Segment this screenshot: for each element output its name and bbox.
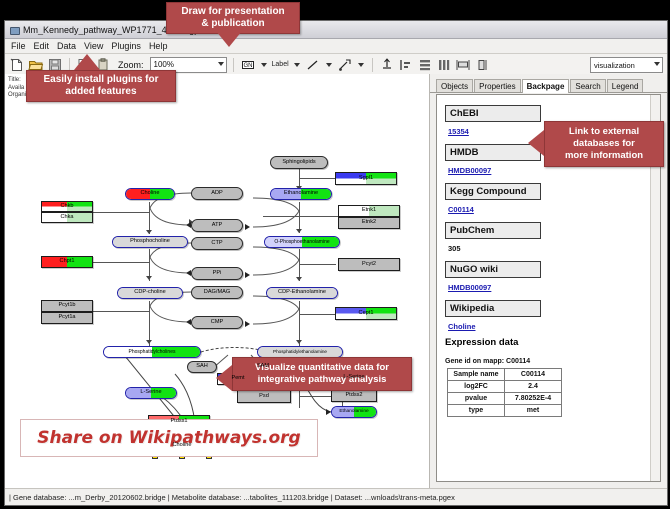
node-sgpl1[interactable]: Sgpl1 [335, 172, 397, 185]
node-atp[interactable]: ATP [191, 219, 243, 232]
db-header-chebi: ChEBI [445, 105, 541, 122]
align-left-button[interactable] [398, 57, 414, 73]
edge-etnk-line [263, 216, 338, 217]
node-label: SAM [249, 364, 277, 370]
node-label: CMP [192, 320, 242, 326]
db-link-kegg[interactable]: C00114 [448, 205, 652, 214]
label-button[interactable]: Label [272, 61, 289, 68]
node-label: Choline [126, 191, 174, 197]
node-label: ADP [192, 191, 242, 197]
callout-plugins-line2: added features [65, 86, 136, 98]
cell-key: log2FC [448, 381, 505, 393]
edge-chpt1-line [93, 262, 150, 263]
cell-key: type [448, 405, 505, 417]
edge-cept1-line [300, 314, 336, 315]
node-cmp[interactable]: CMP [191, 316, 243, 329]
expression-table: Sample name C00114 log2FC 2.4 pvalue 7.8… [447, 368, 562, 417]
node-label: O-Phosphoethanolamine [265, 240, 339, 245]
node-label: Choline [156, 443, 208, 449]
callout-links: Link to external databases for more info… [544, 121, 664, 167]
node-l-serine-left[interactable]: L-Serine [125, 387, 177, 399]
db-value-pubchem: 305 [448, 244, 652, 253]
callout-draw: Draw for presentation & publication [166, 2, 300, 34]
node-label: CTP [192, 241, 242, 247]
table-row: log2FC 2.4 [448, 381, 562, 393]
arrowhead-2 [146, 276, 152, 280]
node-label: Ptdss2 [332, 393, 376, 399]
arrowhead-6 [296, 277, 302, 281]
edge-pcyt-line [93, 311, 150, 312]
screenshot-root: Mm_Kennedy_pathway_WP1771_45176.gpml Fil… [0, 0, 670, 509]
statusbar-text: | Gene database: ...m_Derby_20120602.bri… [9, 493, 455, 502]
node-label: Ptdss1 [149, 419, 209, 425]
toolbar-separator-3 [372, 58, 373, 72]
db-link-hmdb[interactable]: HMDB00097 [448, 166, 652, 175]
node-label: Etnk2 [339, 220, 399, 226]
callout-links-line1: Link to external [569, 126, 639, 138]
node-label: Pcyt1b [42, 303, 92, 309]
node-label: CDP-Ethanolamine [267, 290, 337, 296]
callout-links-line2: databases for [573, 138, 635, 150]
callout-draw-arrow [216, 31, 242, 47]
node-etnk1[interactable]: Etnk1 [338, 205, 400, 217]
arrowhead-7 [296, 340, 302, 344]
db-link-nugo[interactable]: HMDB00097 [448, 283, 652, 292]
edge-pcyt2-line [300, 264, 336, 265]
visualization-combo[interactable]: visualization [590, 57, 663, 73]
node-cdp-ethanolamine[interactable]: CDP-Ethanolamine [266, 287, 338, 299]
callout-plugins: Easily install plugins for added feature… [26, 70, 176, 102]
menu-help[interactable]: Help [149, 41, 168, 51]
node-pcyt1b[interactable]: Pcyt1b [41, 300, 93, 312]
node-cept1[interactable]: Cept1 [335, 307, 397, 320]
node-phosphocholine[interactable]: Phosphocholine [112, 236, 188, 248]
menu-view[interactable]: View [84, 41, 103, 51]
callout-links-line3: more information [565, 150, 643, 162]
label-dropdown-icon[interactable] [294, 63, 300, 67]
node-ethanolamine[interactable]: Ethanolamine [270, 188, 332, 200]
node-label: CDP-choline [118, 290, 182, 296]
table-row: type met [448, 405, 562, 417]
node-label: Sgpl1 [336, 176, 396, 182]
edge-chk-line [93, 212, 150, 213]
node-adp[interactable]: ADP [191, 187, 243, 200]
node-label: Phosphatidylcholines [104, 350, 200, 355]
menubar: File Edit Data View Plugins Help [5, 39, 667, 54]
tab-properties[interactable]: Properties [474, 79, 520, 92]
cell-key: pvalue [448, 393, 505, 405]
node-choline-top[interactable]: Choline [125, 188, 175, 200]
arrowright-atp2 [245, 224, 250, 230]
window-titlebar: Mm_Kennedy_pathway_WP1771_45176.gpml [5, 21, 667, 39]
node-sah[interactable]: SAH [187, 361, 217, 373]
node-label: Ethanolamine [271, 191, 331, 197]
menu-plugins[interactable]: Plugins [111, 41, 141, 51]
node-ctp[interactable]: CTP [191, 237, 243, 250]
callout-links-arrow [528, 130, 544, 156]
node-etnk2[interactable]: Etnk2 [338, 217, 400, 229]
node-pcyt2[interactable]: Pcyt2 [338, 258, 400, 271]
node-o-phosphoethanolamine[interactable]: O-Phosphoethanolamine [264, 236, 340, 248]
stack-horizontal-button[interactable] [436, 57, 452, 73]
tab-search[interactable]: Search [570, 79, 605, 92]
pathway-meta: Title: Availa Organi [8, 77, 26, 100]
arrowhead-3 [146, 340, 152, 344]
arrowhead-5 [296, 229, 302, 233]
same-height-button[interactable] [474, 57, 490, 73]
callout-plugins-line1: Easily install plugins for [43, 74, 158, 86]
node-label: Chkb [42, 204, 92, 210]
table-row: Sample name C00114 [448, 369, 562, 381]
arrowhead-1 [146, 230, 152, 234]
node-label: SAH [188, 364, 216, 370]
tab-backpage[interactable]: Backpage [522, 79, 570, 93]
node-chkb[interactable]: Chkb [41, 201, 93, 212]
datanode-button[interactable]: GN [240, 57, 256, 73]
node-dag-mag[interactable]: DAG/MAG [191, 286, 243, 299]
menu-edit[interactable]: Edit [34, 41, 50, 51]
new-file-button[interactable] [9, 57, 25, 73]
arrowright-ppi2 [245, 272, 250, 278]
callout-visualize: Visualize quantitative data for integrat… [232, 357, 412, 391]
meta-availability: Availa [8, 85, 26, 93]
node-ppi[interactable]: PPi [191, 267, 243, 280]
visualization-value: visualization [594, 61, 635, 70]
db-header-wikipedia: Wikipedia [445, 300, 541, 317]
chevron-down-icon [218, 62, 224, 66]
interaction-button[interactable] [337, 57, 353, 73]
same-width-button[interactable] [455, 57, 471, 73]
node-label: Sphingolipids [271, 160, 327, 166]
callout-draw-line2: & publication [201, 18, 264, 30]
stack-vertical-button[interactable] [417, 57, 433, 73]
node-label: Pcyt1a [42, 315, 92, 321]
node-label: DAG/MAG [192, 290, 242, 296]
db-link-wikipedia[interactable]: Choline [448, 322, 652, 331]
node-label: Phosphocholine [113, 239, 187, 245]
zoom-value: 100% [154, 60, 174, 69]
zoom-label: Zoom: [118, 60, 144, 70]
node-label: Etnk1 [339, 208, 399, 214]
gene-id-line: Gene id on mapp: C00114 [445, 358, 652, 365]
meta-organism: Organi [8, 92, 26, 100]
node-label: L-Serine [126, 390, 176, 396]
align-top-button[interactable] [379, 57, 395, 73]
tab-objects[interactable]: Objects [436, 79, 473, 92]
cell-value: met [505, 405, 562, 417]
db-header-kegg: Kegg Compound [445, 183, 541, 200]
node-label: Ethanolamine [332, 410, 376, 415]
node-label: ATP [192, 223, 242, 229]
statusbar: | Gene database: ...m_Derby_20120602.bri… [5, 488, 667, 505]
chevron-down-icon-2 [654, 62, 660, 66]
node-chpt1[interactable]: Chpt1 [41, 256, 93, 268]
db-header-pubchem: PubChem [445, 222, 541, 239]
node-label: Pcyt2 [339, 262, 399, 268]
menu-file[interactable]: File [11, 41, 26, 51]
node-label: Chka [42, 215, 92, 221]
table-row: pvalue 7.80252E-4 [448, 393, 562, 405]
node-label: Pemt [218, 376, 258, 382]
cell-value: 2.4 [505, 381, 562, 393]
node-psd[interactable]: Psd [237, 390, 291, 403]
node-pcyt1a[interactable]: Pcyt1a [41, 312, 93, 324]
node-label: Phosphatidylethanolamine [258, 350, 342, 355]
node-label: Chpt1 [42, 259, 92, 265]
tab-legend[interactable]: Legend [607, 79, 644, 92]
node-ethanolamine-bottom[interactable]: Ethanolamine [331, 406, 377, 418]
db-header-hmdb: HMDB [445, 144, 541, 161]
db-header-nugo: NuGO wiki [445, 261, 541, 278]
interaction-dropdown-icon[interactable] [358, 63, 364, 67]
arrowright-cmp2 [245, 321, 250, 327]
node-phosphatidylcholines[interactable]: Phosphatidylcholines [103, 346, 201, 358]
expression-data-title: Expression data [445, 337, 652, 348]
callout-plugins-arrow [74, 54, 100, 70]
node-chka[interactable]: Chka [41, 212, 93, 223]
datanode-dropdown-icon[interactable] [261, 63, 267, 67]
meta-title: Title: [8, 77, 26, 85]
node-cdp-choline[interactable]: CDP-choline [117, 287, 183, 299]
cell-value: C00114 [505, 369, 562, 381]
line-button[interactable] [305, 57, 321, 73]
toolbar-separator-2 [233, 58, 234, 72]
node-label: PPi [192, 271, 242, 277]
menu-data[interactable]: Data [57, 41, 76, 51]
node-label: L-Serine [332, 375, 376, 381]
cell-value: 7.80252E-4 [505, 393, 562, 405]
node-sphingolipids[interactable]: Sphingolipids [270, 156, 328, 169]
line-dropdown-icon[interactable] [326, 63, 332, 67]
node-label: Psd [238, 394, 290, 400]
callout-share: Share on Wikipathways.org [20, 419, 318, 457]
side-tabs: Objects Properties Backpage Search Legen… [430, 77, 667, 93]
cell-key: Sample name [448, 369, 505, 381]
app-icon [9, 25, 19, 35]
callout-draw-line1: Draw for presentation [181, 6, 284, 18]
svg-text:GN: GN [243, 63, 252, 69]
node-label: Cept1 [336, 311, 396, 317]
edge-sgpl1-line [300, 178, 336, 179]
